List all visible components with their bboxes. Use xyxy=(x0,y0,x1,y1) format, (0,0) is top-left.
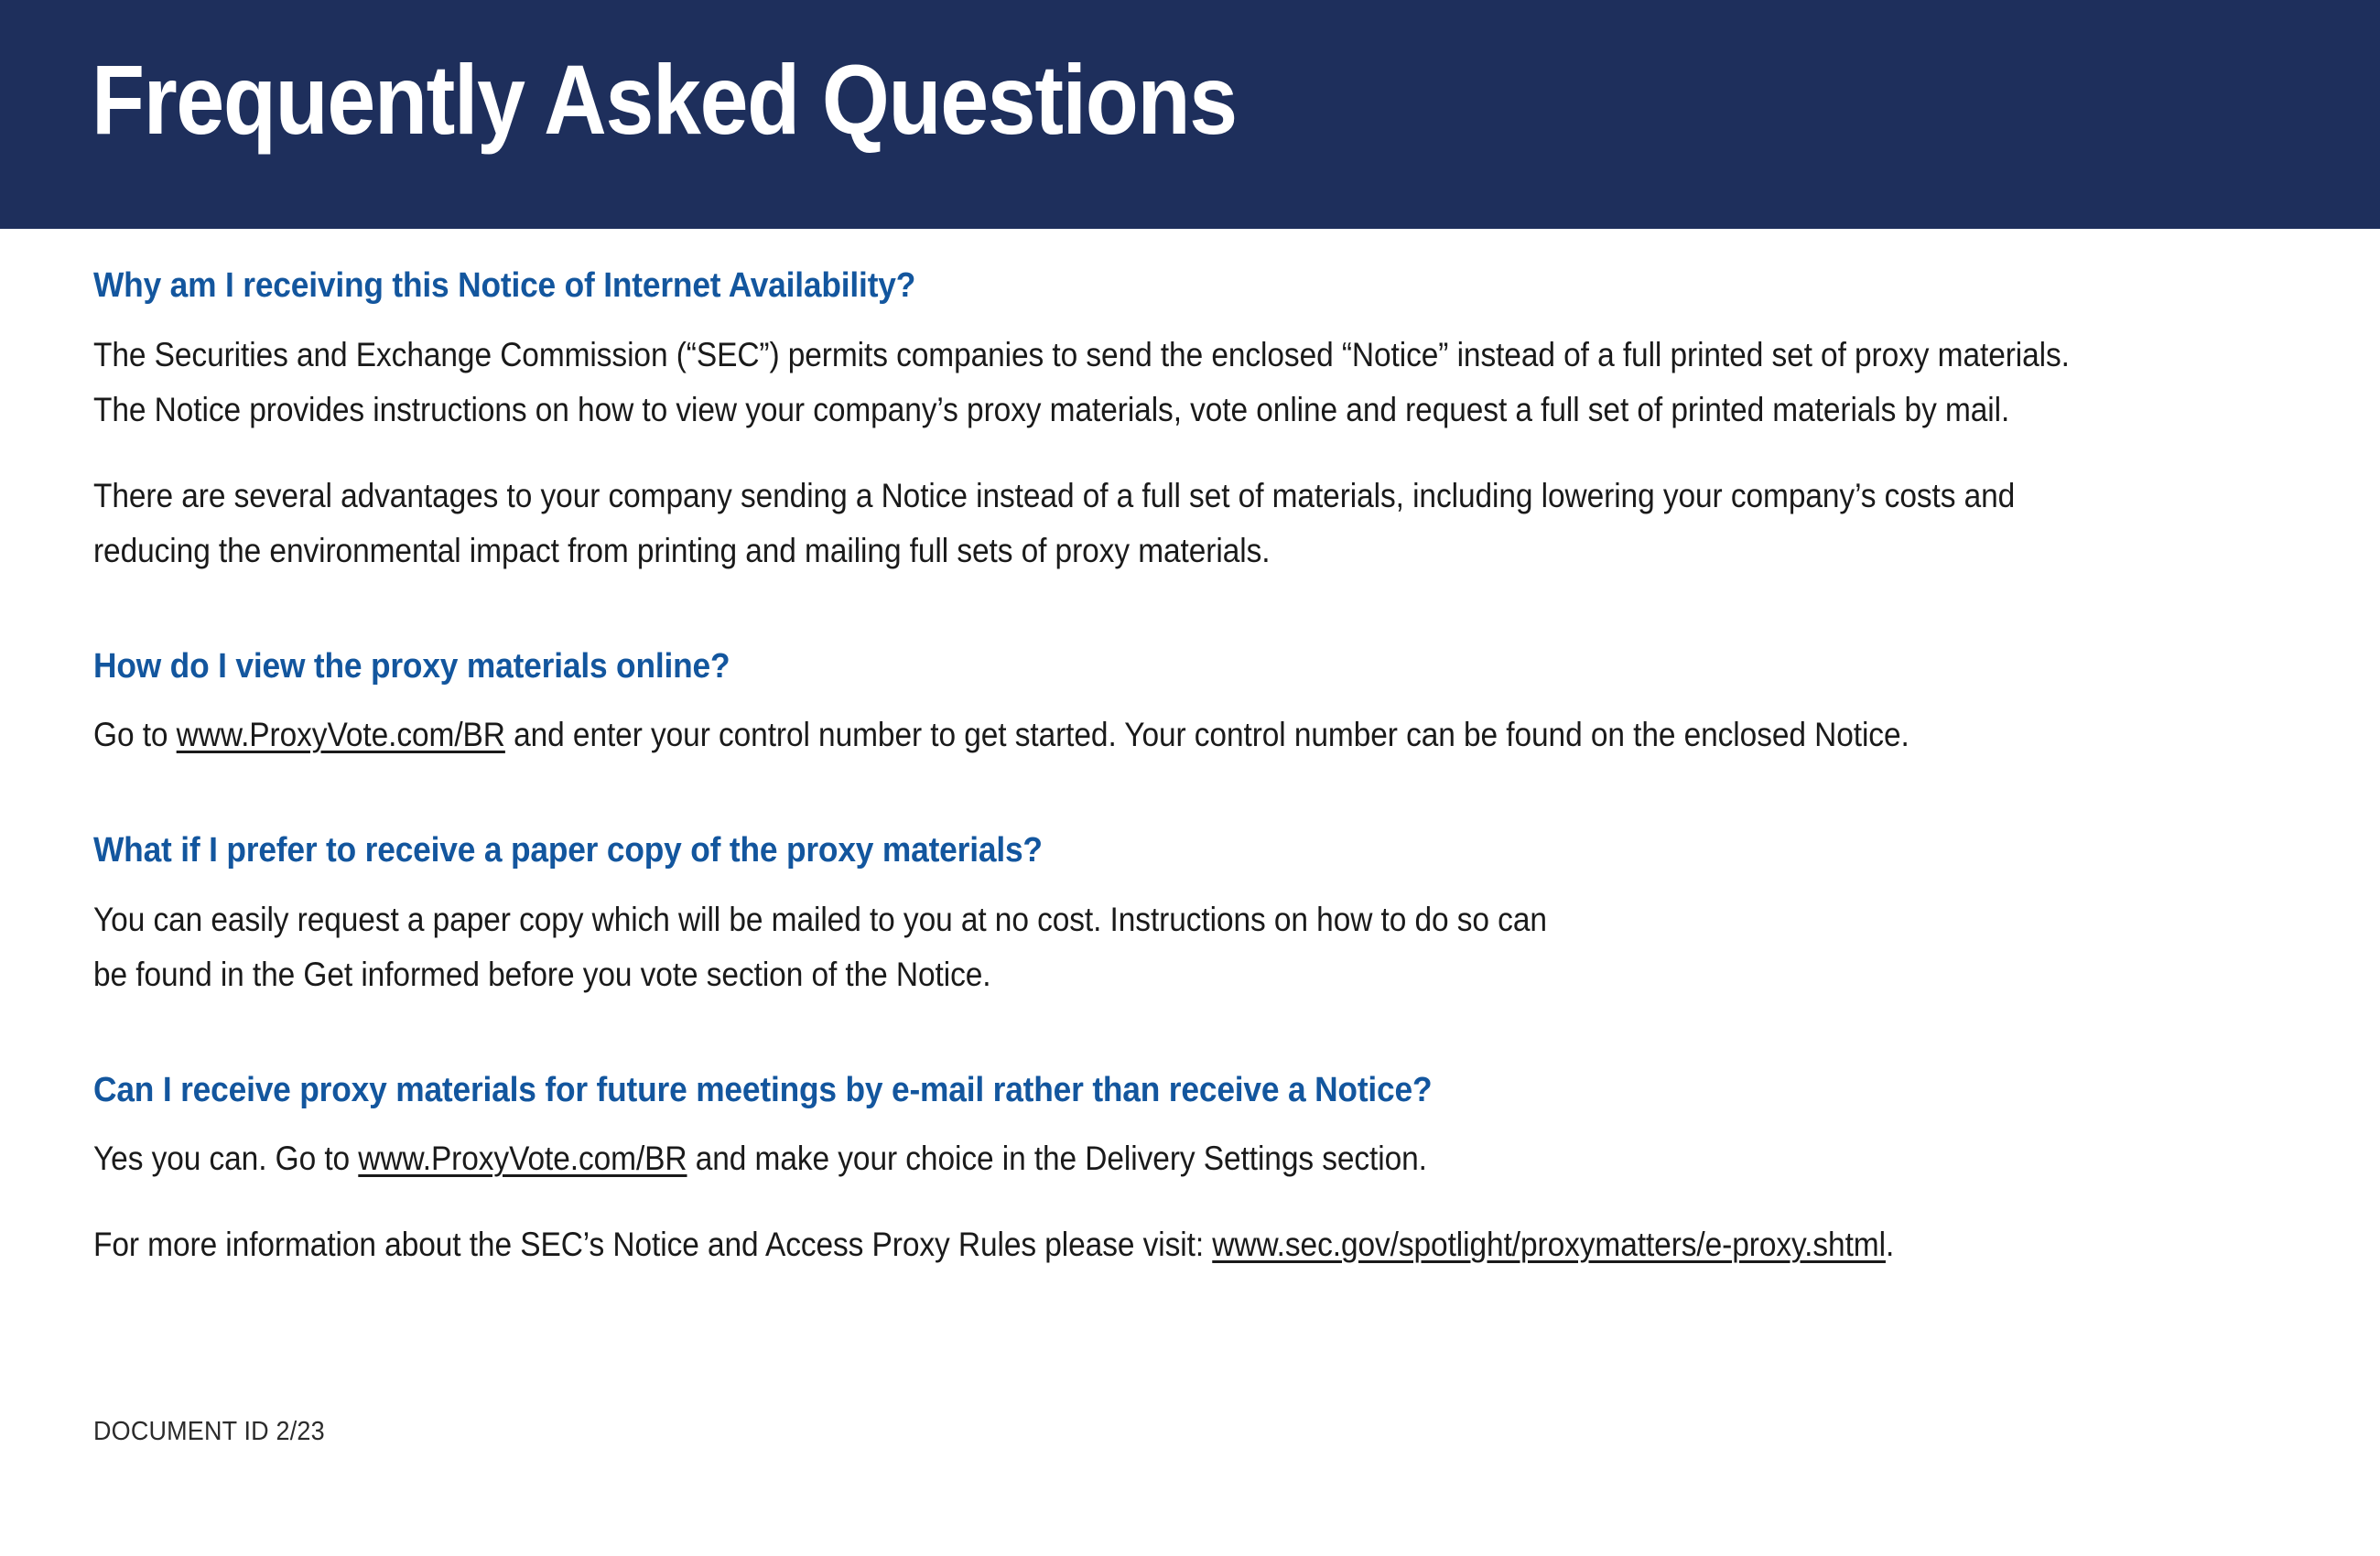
section-divider xyxy=(93,1002,2318,1070)
text-run: and make your choice in the Delivery Set… xyxy=(687,1140,1427,1177)
faq-answer-1-paragraph-1: The Securities and Exchange Commission (… xyxy=(93,328,2106,438)
text-run: Yes you can. Go to xyxy=(93,1140,358,1177)
faq-item-2: How do I view the proxy materials online… xyxy=(93,646,2318,763)
inline-link[interactable]: www.sec.gov/spotlight/proxymatters/e-pro… xyxy=(1212,1226,1886,1263)
text-run: For more information about the SEC’s Not… xyxy=(93,1226,1212,1263)
text-run: . xyxy=(1886,1226,1894,1263)
page-header-band: Frequently Asked Questions xyxy=(0,0,2380,229)
faq-item-4: Can I receive proxy materials for future… xyxy=(93,1070,2318,1273)
faq-question-3: What if I prefer to receive a paper copy… xyxy=(93,830,2162,872)
faq-answer-3-paragraph-1: You can easily request a paper copy whic… xyxy=(93,892,1552,1002)
faq-question-2: How do I view the proxy materials online… xyxy=(93,646,2162,688)
faq-content: Why am I receiving this Notice of Intern… xyxy=(93,229,2318,1272)
section-divider xyxy=(93,762,2318,830)
text-run: Go to xyxy=(93,716,177,753)
faq-answer-4-paragraph-1: Yes you can. Go to www.ProxyVote.com/BR … xyxy=(93,1131,2106,1186)
text-run: The Securities and Exchange Commission (… xyxy=(93,336,2070,428)
faq-question-1: Why am I receiving this Notice of Intern… xyxy=(93,265,2162,308)
text-run: and enter your control number to get sta… xyxy=(505,716,1909,753)
text-run: There are several advantages to your com… xyxy=(93,477,2015,569)
faq-page: Frequently Asked Questions Why am I rece… xyxy=(0,0,2380,1556)
faq-answer-1-paragraph-2: There are several advantages to your com… xyxy=(93,469,2106,578)
faq-item-1: Why am I receiving this Notice of Intern… xyxy=(93,229,2318,578)
faq-answer-2-paragraph-1: Go to www.ProxyVote.com/BR and enter you… xyxy=(93,708,2106,762)
document-id-footer: DOCUMENT ID 2/23 xyxy=(93,1417,325,1447)
page-title: Frequently Asked Questions xyxy=(92,48,1237,151)
text-run: You can easily request a paper copy whic… xyxy=(93,901,1547,993)
inline-link[interactable]: www.ProxyVote.com/BR xyxy=(177,716,505,753)
faq-question-4: Can I receive proxy materials for future… xyxy=(93,1070,2162,1112)
faq-item-3: What if I prefer to receive a paper copy… xyxy=(93,830,2318,1002)
inline-link[interactable]: www.ProxyVote.com/BR xyxy=(358,1140,687,1177)
faq-answer-4-paragraph-2: For more information about the SEC’s Not… xyxy=(93,1217,2106,1272)
section-divider xyxy=(93,578,2318,646)
